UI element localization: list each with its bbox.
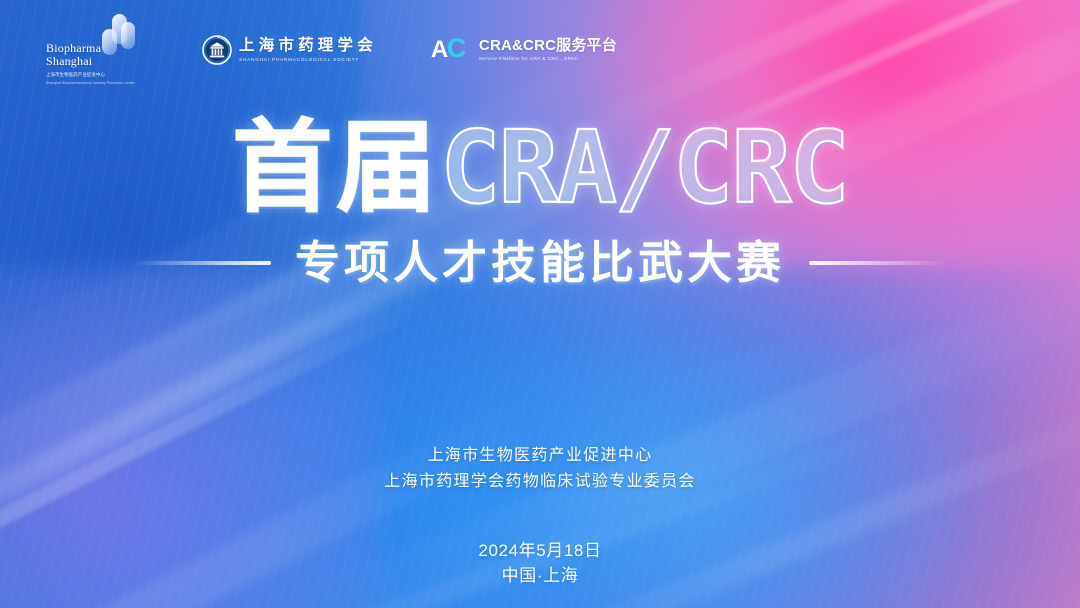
main-title-cn: 首届 [232, 112, 440, 224]
subtitle-text: 专项人才技能比武大赛 [295, 238, 785, 288]
divider-rule-left [134, 261, 271, 265]
society-name-en: SHANGHAI PHARMACOLOGICAL SOCIETY [239, 56, 377, 64]
footer-block: 上海市生物医药产业促进中心 上海市药理学会药物临床试验专业委员会 2024年5月… [0, 443, 1080, 588]
organizer-line-2: 上海市药理学会药物临床试验专业委员会 [0, 469, 1080, 495]
logo-biopharma-shanghai: Biopharma Shanghai 上海市生物医药产业促进中心 Shangha… [46, 12, 142, 88]
platform-name-cn: CRA&CRC服务平台 [479, 37, 617, 54]
ac-monogram-icon: A C [431, 35, 473, 65]
logo-cra-crc-service-platform: A C CRA&CRC服务平台 Service Platform for CRA… [431, 35, 617, 65]
event-location: 中国·上海 [0, 563, 1080, 588]
society-emblem-icon [202, 35, 232, 65]
biopharma-subtitle-cn: 上海市生物医药产业促进中心 [46, 71, 135, 78]
society-name-cn: 上海市药理学会 [239, 37, 377, 54]
biopharma-wordmark: Biopharma Shanghai 上海市生物医药产业促进中心 Shangha… [46, 42, 135, 86]
biopharma-name-line1: Biopharma [46, 42, 135, 55]
logo-shanghai-pharmacological-society: 上海市药理学会 SHANGHAI PHARMACOLOGICAL SOCIETY [202, 35, 377, 65]
organizer-line-1: 上海市生物医药产业促进中心 [0, 443, 1080, 469]
event-details: 2024年5月18日 中国·上海 [0, 538, 1080, 588]
biopharma-name-line2: Shanghai [46, 55, 135, 68]
platform-name-en: Service Platform for CRA & CRC , SPAC [479, 56, 617, 64]
poster-canvas: Biopharma Shanghai 上海市生物医药产业促进中心 Shangha… [0, 0, 1080, 608]
platform-wordmark: CRA&CRC服务平台 Service Platform for CRA & C… [479, 37, 617, 64]
biopharma-subtitle-en: Shanghai Biopharmaceutical Industry Prom… [46, 80, 135, 86]
ac-letter-a: A [431, 38, 448, 62]
ac-letter-c: C [447, 35, 467, 62]
main-title: 首届CRA/CRC [232, 118, 847, 218]
title-block: 首届CRA/CRC [0, 118, 1080, 218]
logo-bar: Biopharma Shanghai 上海市生物医药产业促进中心 Shangha… [0, 0, 1080, 100]
subtitle-block: 专项人才技能比武大赛 [0, 238, 1080, 288]
divider-rule-right [809, 261, 946, 265]
main-title-en: CRA/CRC [440, 109, 847, 226]
event-date: 2024年5月18日 [0, 538, 1080, 563]
society-wordmark: 上海市药理学会 SHANGHAI PHARMACOLOGICAL SOCIETY [239, 37, 377, 64]
